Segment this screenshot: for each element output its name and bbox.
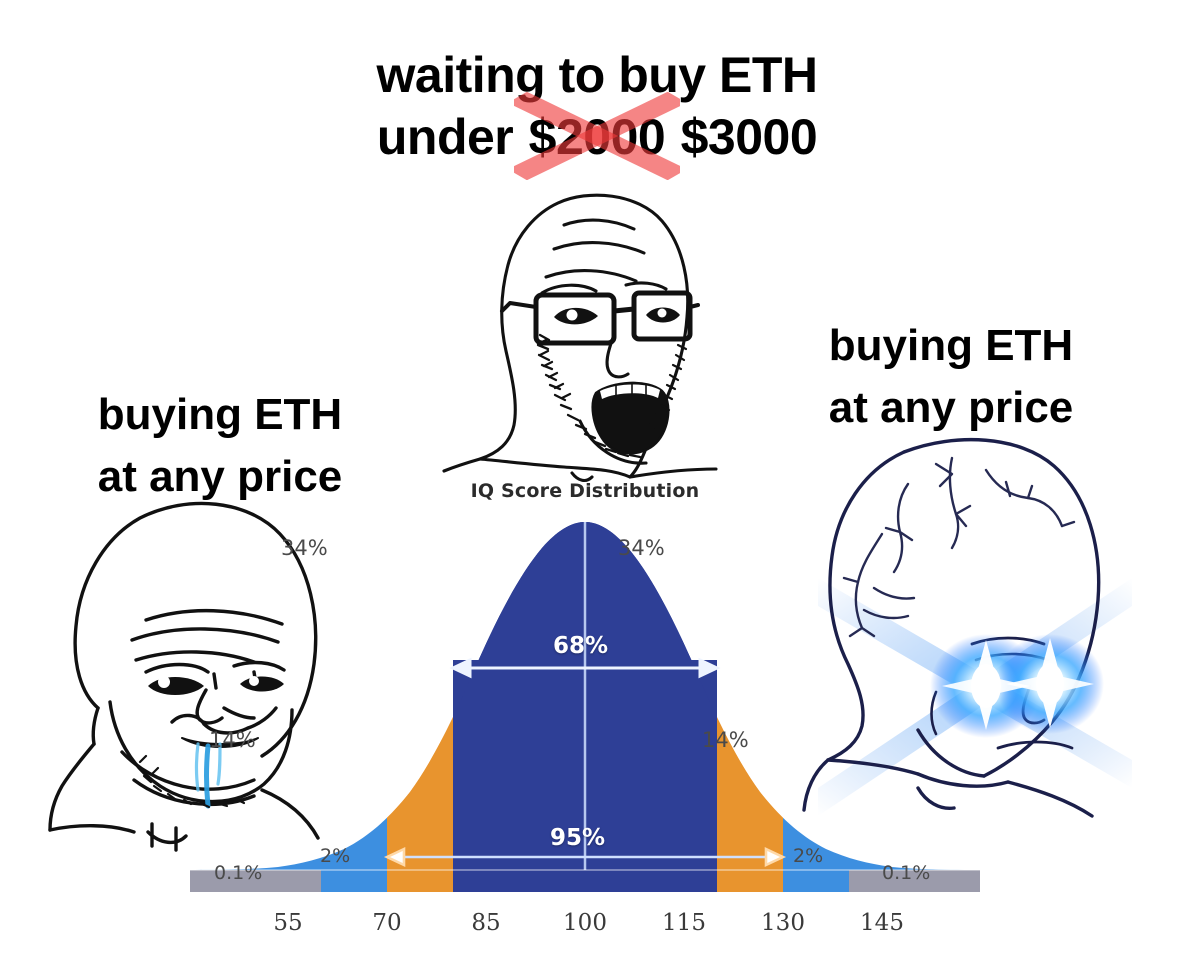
label-34-right: 34%	[618, 536, 665, 560]
label-14-right: 14%	[702, 728, 749, 752]
tick-70: 70	[372, 910, 401, 936]
label-01-right: 0.1%	[882, 862, 930, 884]
label-span-95: 95%	[550, 825, 605, 851]
right-caption: buying ETH at any price	[786, 315, 1116, 439]
new-price-text: $3000	[667, 109, 817, 165]
soyjak-glasses-icon	[440, 185, 760, 485]
top-caption-prefix: under	[377, 109, 527, 165]
iq-distribution-chart: IQ Score Distribution	[190, 470, 980, 940]
struck-price-text: $2000	[529, 109, 666, 165]
left-caption-line1: buying ETH	[55, 384, 385, 446]
axis-segment-bar	[190, 870, 980, 892]
meme-canvas: waiting to buy ETH under $2000 $3000 buy…	[0, 0, 1194, 955]
tick-55: 55	[273, 910, 302, 936]
top-caption-line2: under $2000 $3000	[0, 106, 1194, 168]
label-01-left: 0.1%	[214, 862, 262, 884]
label-span-68: 68%	[553, 633, 608, 659]
tick-100: 100	[563, 910, 607, 936]
label-2-right: 2%	[793, 845, 823, 867]
top-caption-line1: waiting to buy ETH	[377, 47, 818, 103]
tick-85: 85	[471, 910, 500, 936]
top-caption: waiting to buy ETH under $2000 $3000	[0, 44, 1194, 168]
right-caption-line1: buying ETH	[786, 315, 1116, 377]
tick-145: 145	[860, 910, 904, 936]
tick-115: 115	[662, 910, 706, 936]
label-14-left: 14%	[209, 728, 256, 752]
tick-130: 130	[761, 910, 805, 936]
struck-price-wrapper: $2000	[527, 106, 668, 168]
label-2-left: 2%	[320, 845, 350, 867]
label-34-left: 34%	[281, 536, 328, 560]
